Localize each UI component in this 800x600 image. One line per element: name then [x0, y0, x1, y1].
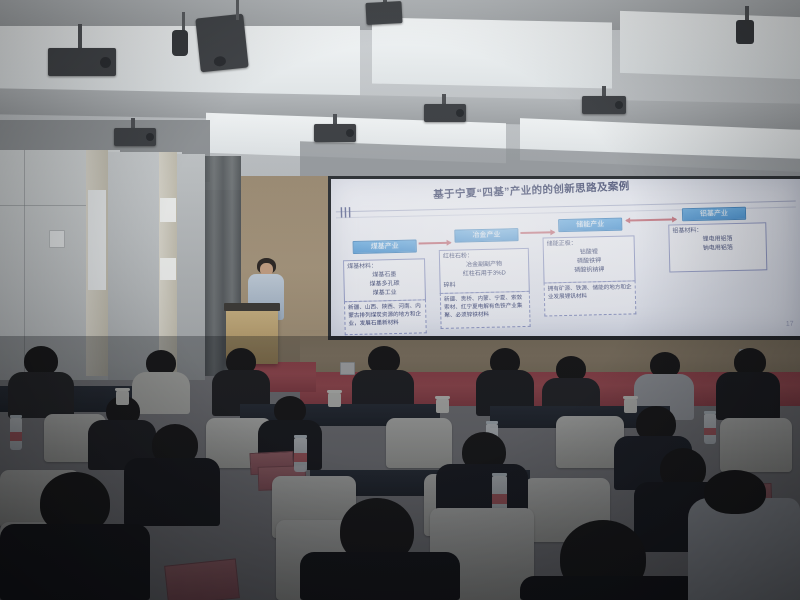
chip-industry-4: 铝基产业	[682, 207, 746, 222]
chip-industry-1: 煤基产业	[353, 240, 417, 255]
water-bottle	[704, 414, 716, 444]
slide-box-3-top: 储能正极： 钴酸锂 磷酸铁钾 磷酸钒钠钾	[543, 235, 636, 283]
podium-top-surface	[224, 303, 280, 311]
box-note: 新疆、贵桥、内蒙、宁夏、索敦索材、红宁夏电解有色铁产业集聚、必须锌铁材料	[441, 292, 530, 322]
slide-box-3-note: 拥有矿源、铁源、储能的地方和企业发展锂钒材料	[544, 280, 637, 316]
projector-1	[48, 48, 116, 76]
projector-2	[195, 14, 248, 73]
box-note: 拥有矿源、铁源、储能的地方和企业发展锂钒材料	[545, 281, 635, 303]
name-tent	[164, 558, 240, 600]
projector-5	[114, 128, 156, 146]
tea-cup	[328, 392, 341, 407]
conference-hall-photo: 基于宁夏“四基”产业的的创新思路及案例 ||| 煤基产业 冶金产业 储能产业 铝…	[0, 0, 800, 600]
wall-light-slot	[88, 190, 106, 290]
wall-vent	[160, 198, 176, 222]
wall-switch[interactable]	[49, 230, 65, 248]
audience-head	[704, 470, 766, 514]
chip-industry-3: 储能产业	[558, 218, 622, 233]
projector-6	[314, 124, 356, 142]
slide-number: 17	[786, 321, 794, 328]
projector-lens-icon	[100, 57, 111, 68]
slide-section-marker: |||	[340, 206, 353, 218]
box-line: 煤基工业	[345, 288, 425, 299]
spotlight-3	[736, 20, 754, 44]
slide-title: 基于宁夏“四基”产业的的创新思路及案例	[381, 179, 681, 204]
slide-box-2-note: 新疆、贵桥、内蒙、宁夏、索敦索材、红宁夏电解有色铁产业集聚、必须锌铁材料	[440, 291, 531, 329]
projector-lens-icon	[615, 101, 623, 109]
chip-industry-2: 冶金产业	[454, 228, 518, 243]
audience-torso	[0, 524, 150, 600]
wall-vent	[160, 258, 176, 280]
arrow-1	[419, 242, 451, 245]
slide-box-4-top: 铝基材料： 锂电用铝箔 钠电用铝箔	[668, 222, 767, 272]
projector-7	[424, 104, 466, 122]
ceiling-light-trough-3	[620, 11, 800, 79]
projector-3	[365, 1, 402, 25]
box-note: 新疆、山西、陕西、河南、内蒙古排列煤炭资源的地方和企业，发展石墨新材料	[345, 300, 426, 330]
spotlight-arm-2	[236, 0, 239, 20]
slide-content: 基于宁夏“四基”产业的的创新思路及案例 ||| 煤基产业 冶金产业 储能产业 铝…	[331, 179, 800, 336]
water-bottle	[10, 418, 22, 450]
box-line: 钠电用铝箔	[670, 243, 766, 254]
water-bottle	[294, 438, 307, 472]
tea-cup	[116, 390, 129, 405]
audience-torso	[300, 552, 460, 600]
spotlight-1	[172, 30, 188, 56]
arrow-3	[626, 218, 676, 221]
slide-box-1-top: 煤基材料： 煤基石墨 煤基多孔碳 煤基工业	[343, 258, 426, 302]
projection-screen[interactable]: 基于宁夏“四基”产业的的创新思路及案例 ||| 煤基产业 冶金产业 储能产业 铝…	[331, 179, 800, 336]
arrow-2	[520, 231, 554, 234]
slide-box-2-top: 红柱石粉： 冶金副副产物 红柱石用于3%D 碎料	[439, 248, 530, 294]
projector-8	[582, 96, 626, 114]
wall-outlet	[340, 362, 355, 375]
box-note-inline: 碎料	[440, 278, 528, 291]
audience-torso	[8, 372, 74, 418]
tea-cup	[436, 398, 449, 413]
slide-box-1-note: 新疆、山西、陕西、河南、内蒙古排列煤炭资源的地方和企业，发展石墨新材料	[344, 299, 427, 335]
audience-torso	[124, 458, 220, 526]
chair	[386, 418, 452, 468]
projector-lens-icon	[456, 109, 464, 117]
box-line: 磷酸钒钠钾	[544, 265, 634, 276]
ceiling-light-trough-2	[372, 17, 612, 88]
audience-torso	[520, 576, 700, 600]
audience-torso	[716, 372, 780, 420]
audience-torso	[132, 372, 190, 414]
tea-cup	[624, 398, 637, 413]
projector-lens-icon	[346, 129, 354, 137]
projector-mount-1	[78, 24, 82, 50]
projector-lens-icon	[146, 133, 154, 141]
chair	[720, 418, 792, 472]
projector-lens-icon	[213, 56, 226, 67]
